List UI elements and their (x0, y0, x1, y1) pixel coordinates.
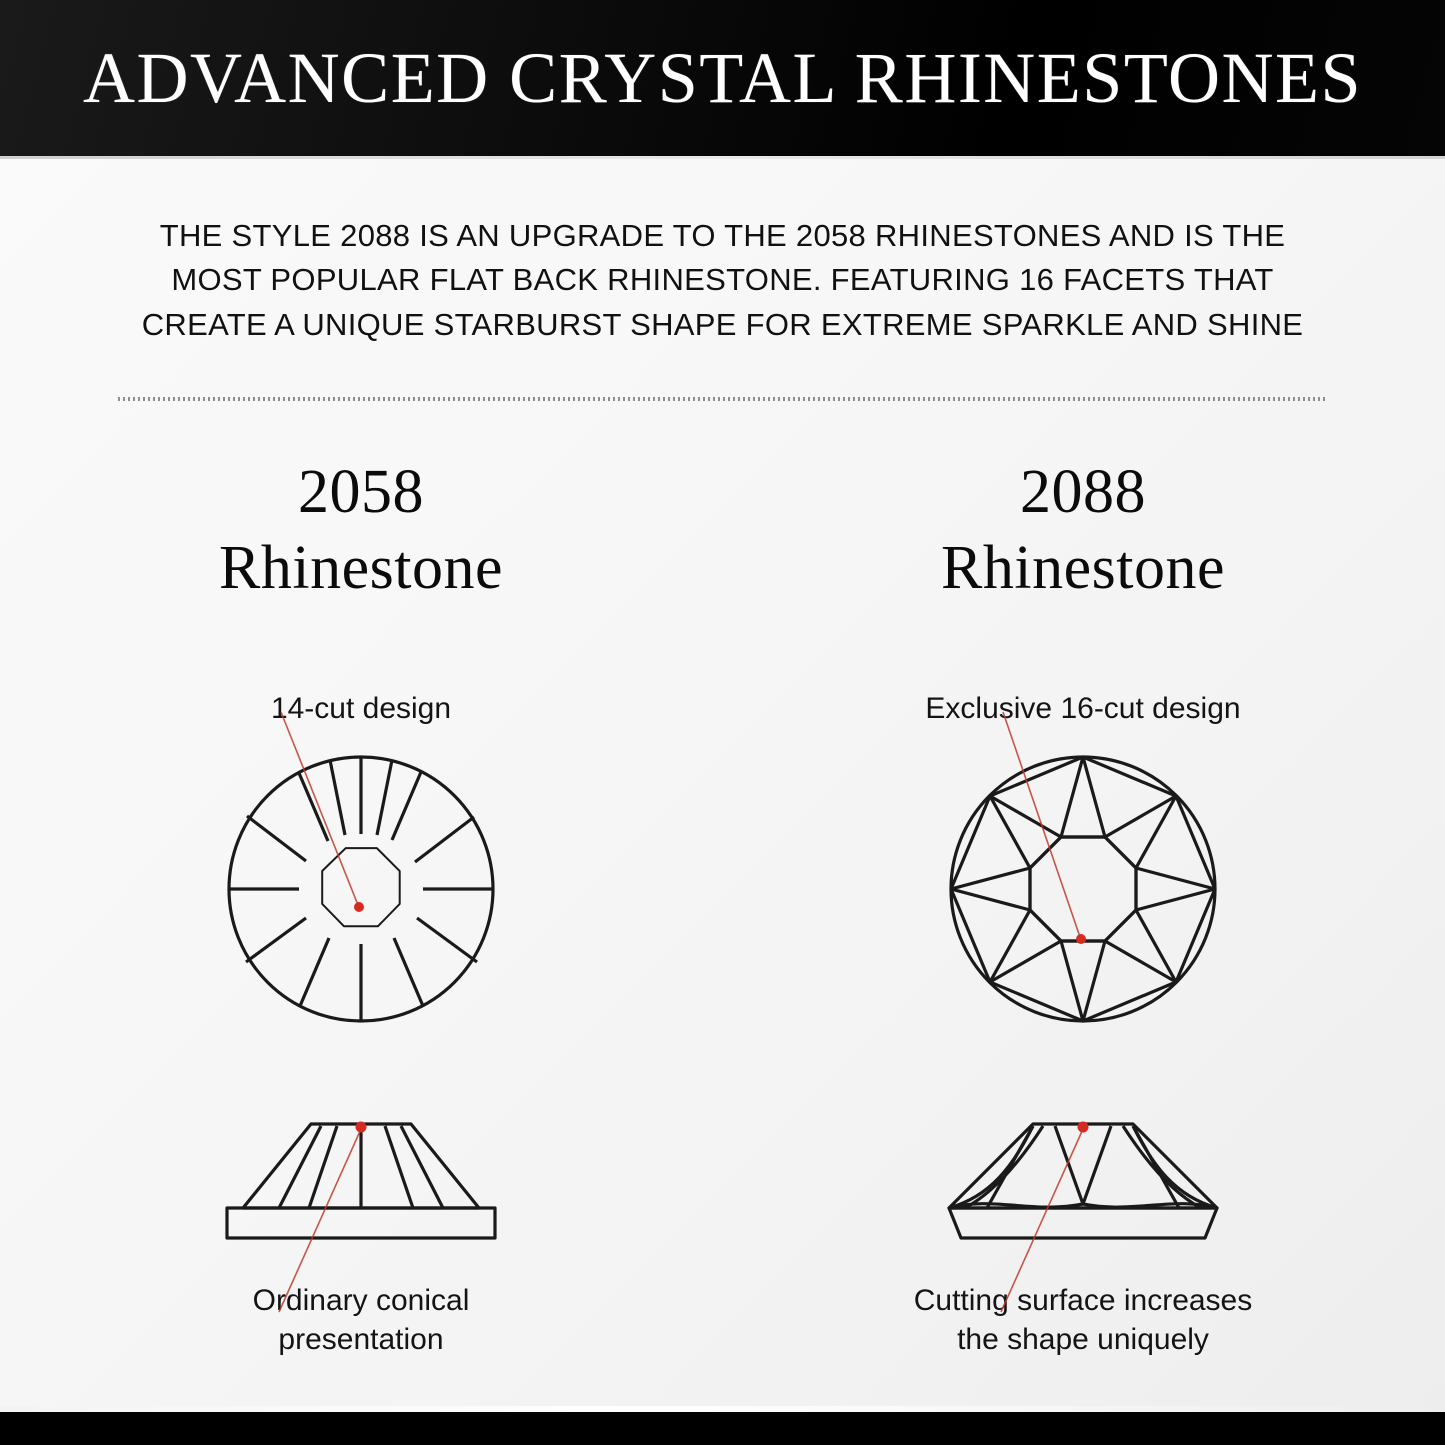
column-2058: 2058 Rhinestone 14-cut design (0, 455, 722, 1359)
comparison-columns: 2058 Rhinestone 14-cut design (0, 455, 1445, 1359)
page-title: ADVANCED CRYSTAL RHINESTONES (83, 42, 1362, 114)
diagram-2088-top-view (883, 734, 1283, 1034)
header-underline (0, 156, 1445, 159)
callout-cutting-surface: Cutting surface increases the shape uniq… (914, 1282, 1253, 1359)
diagram-2058-top-view (161, 734, 561, 1034)
poster-page: ADVANCED CRYSTAL RHINESTONES THE STYLE 2… (0, 0, 1445, 1445)
column-2088: 2088 Rhinestone Exclusive 16-cut design (722, 455, 1444, 1359)
footer-bar (0, 1412, 1445, 1445)
column-title-word: Rhinestone (941, 531, 1225, 607)
callout-14-cut-design: 14-cut design (271, 692, 451, 726)
rhinestone-2088-sideview-shape (949, 1124, 1217, 1238)
rhinestone-2088-topview-shape (951, 757, 1215, 1021)
callout-line-2: presentation (253, 1321, 470, 1359)
column-title-2088: 2088 Rhinestone (941, 455, 1225, 606)
column-title-number: 2088 (941, 455, 1225, 531)
intro-line-3: CREATE A UNIQUE STARBURST SHAPE FOR EXTR… (105, 303, 1340, 347)
callout-16-cut-design: Exclusive 16-cut design (925, 692, 1240, 726)
dotted-divider (118, 397, 1327, 401)
header-banner: ADVANCED CRYSTAL RHINESTONES (0, 0, 1445, 156)
rhinestone-2058-topview-shape (229, 757, 493, 1021)
intro-line-2: MOST POPULAR FLAT BACK RHINESTONE. FEATU… (105, 258, 1340, 302)
intro-paragraph: THE STYLE 2088 IS AN UPGRADE TO THE 2058… (105, 214, 1340, 347)
callout-ordinary-conical: Ordinary conical presentation (253, 1282, 470, 1359)
diagram-2058-side-view (161, 1096, 561, 1276)
rhinestone-2058-sideview-shape (227, 1124, 495, 1238)
diagram-2088-side-view (883, 1096, 1283, 1276)
column-title-2058: 2058 Rhinestone (219, 455, 503, 606)
intro-line-1: THE STYLE 2088 IS AN UPGRADE TO THE 2058… (105, 214, 1340, 258)
callout-line-1: Cutting surface increases (914, 1282, 1253, 1320)
callout-line-1: Ordinary conical (253, 1282, 470, 1320)
callout-line-2: the shape uniquely (914, 1321, 1253, 1359)
column-title-word: Rhinestone (219, 531, 503, 607)
column-title-number: 2058 (219, 455, 503, 531)
